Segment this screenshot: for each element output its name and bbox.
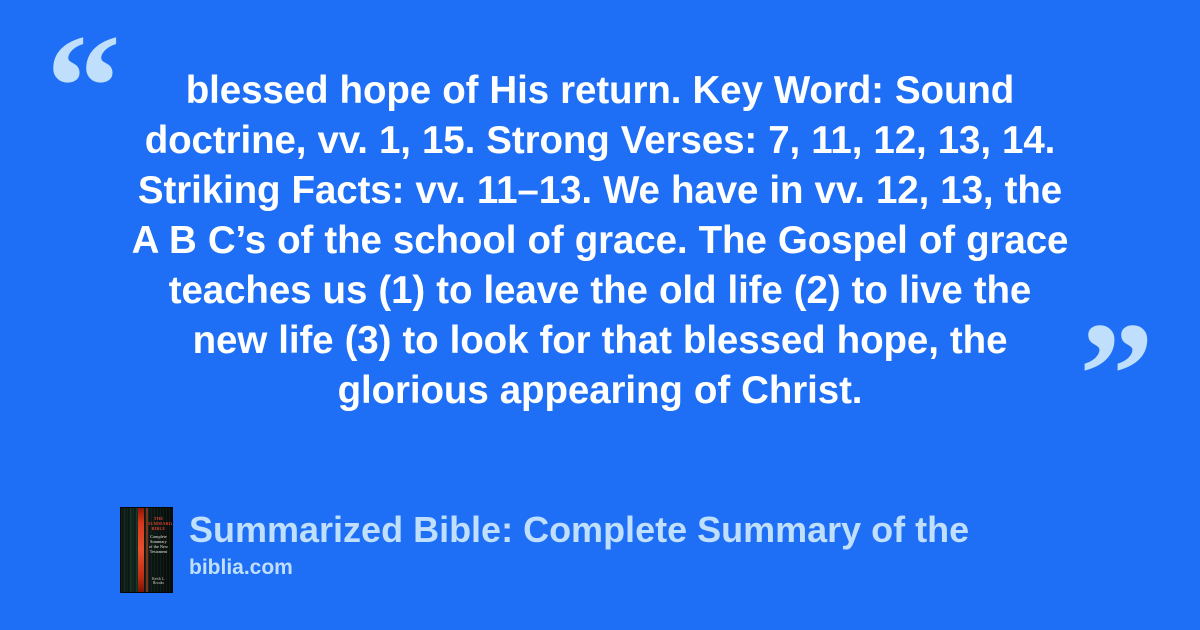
source-title: Summarized Bible: Complete Summary of th… — [189, 509, 1176, 551]
book-cover-title: The Summarized Bible — [148, 516, 169, 531]
book-cover-author: Keith L. Brooks — [148, 577, 169, 585]
closing-quote-icon: ” — [1079, 300, 1154, 450]
source-info: Summarized Bible: Complete Summary of th… — [189, 507, 1176, 581]
quote-card: “ blessed hope of His return. Key Word: … — [0, 0, 1200, 630]
book-cover-subtitle: Complete Summary of the New Testament — [148, 535, 169, 555]
attribution-footer: The Summarized Bible Complete Summary of… — [120, 507, 1176, 593]
book-cover-text: The Summarized Bible Complete Summary of… — [148, 516, 169, 555]
source-url: biblia.com — [189, 555, 1176, 581]
opening-quote-icon: “ — [46, 12, 121, 162]
book-cover-thumbnail: The Summarized Bible Complete Summary of… — [120, 507, 173, 593]
book-cover-stripe — [138, 508, 144, 592]
quote-text: blessed hope of His return. Key Word: So… — [130, 66, 1070, 416]
